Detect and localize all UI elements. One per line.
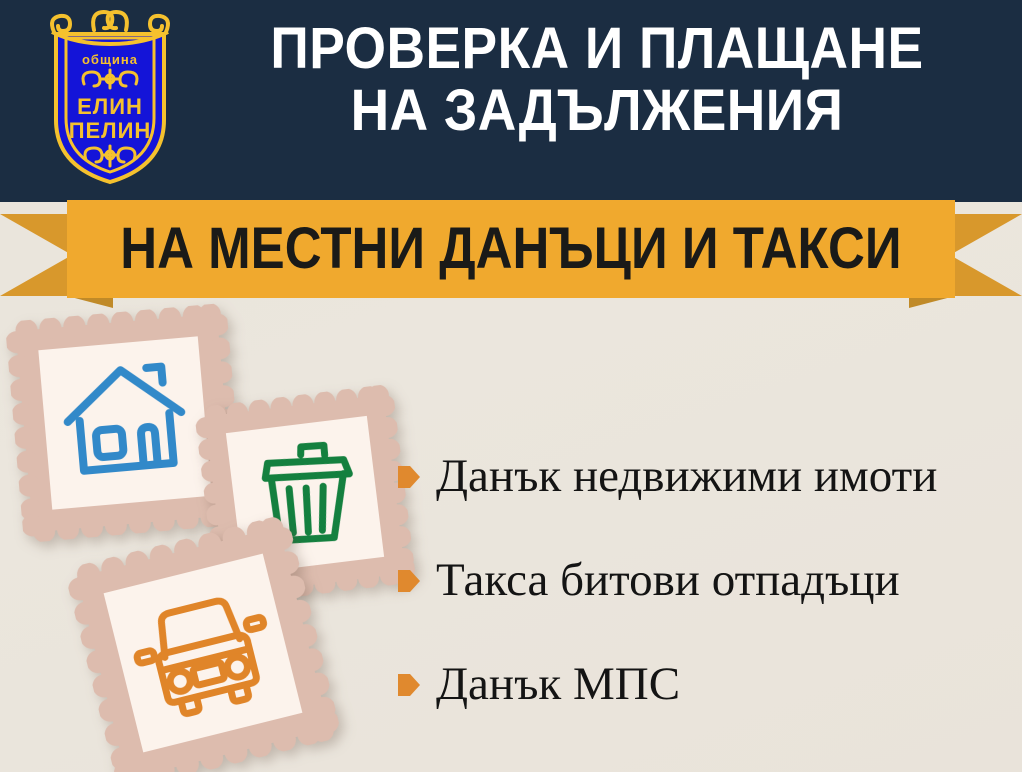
ribbon-banner: НА МЕСТНИ ДАНЪЦИ И ТАКСИ xyxy=(0,200,1022,304)
header-title: ПРОВЕРКА И ПЛАЩАНЕ НА ЗАДЪЛЖЕНИЯ xyxy=(190,18,1004,142)
poster-root: община ЕЛИН ПЕЛИН xyxy=(0,0,1022,772)
list-item-label: Данък МПС xyxy=(436,658,680,710)
arrow-bullet-icon xyxy=(398,464,420,490)
list-item-label: Такса битови отпадъци xyxy=(436,554,900,606)
ribbon-text-wrap: НА МЕСТНИ ДАНЪЦИ И ТАКСИ xyxy=(67,219,955,279)
ribbon-main-panel: НА МЕСТНИ ДАНЪЦИ И ТАКСИ xyxy=(67,200,955,298)
ribbon-label: НА МЕСТНИ ДАНЪЦИ И ТАКСИ xyxy=(120,219,901,279)
arrow-bullet-icon xyxy=(398,672,420,698)
list-item[interactable]: Данък МПС xyxy=(398,632,1008,736)
title-line-2: НА ЗАДЪЛЖЕНИЯ xyxy=(223,80,972,142)
tax-list: Данък недвижими имоти Такса битови отпад… xyxy=(398,424,1008,736)
svg-text:ПЕЛИН: ПЕЛИН xyxy=(69,118,152,143)
list-item-label: Данък недвижими имоти xyxy=(436,450,937,502)
arrow-bullet-icon xyxy=(398,568,420,594)
list-item[interactable]: Такса битови отпадъци xyxy=(398,528,1008,632)
list-item[interactable]: Данък недвижими имоти xyxy=(398,424,1008,528)
svg-text:ЕЛИН: ЕЛИН xyxy=(77,94,143,119)
coat-of-arms-icon: община ЕЛИН ПЕЛИН xyxy=(42,8,178,186)
header-bar: община ЕЛИН ПЕЛИН xyxy=(0,0,1022,202)
svg-text:община: община xyxy=(82,52,138,67)
title-line-1: ПРОВЕРКА И ПЛАЩАНЕ xyxy=(223,18,972,80)
header-inner: община ЕЛИН ПЕЛИН xyxy=(0,0,1022,202)
